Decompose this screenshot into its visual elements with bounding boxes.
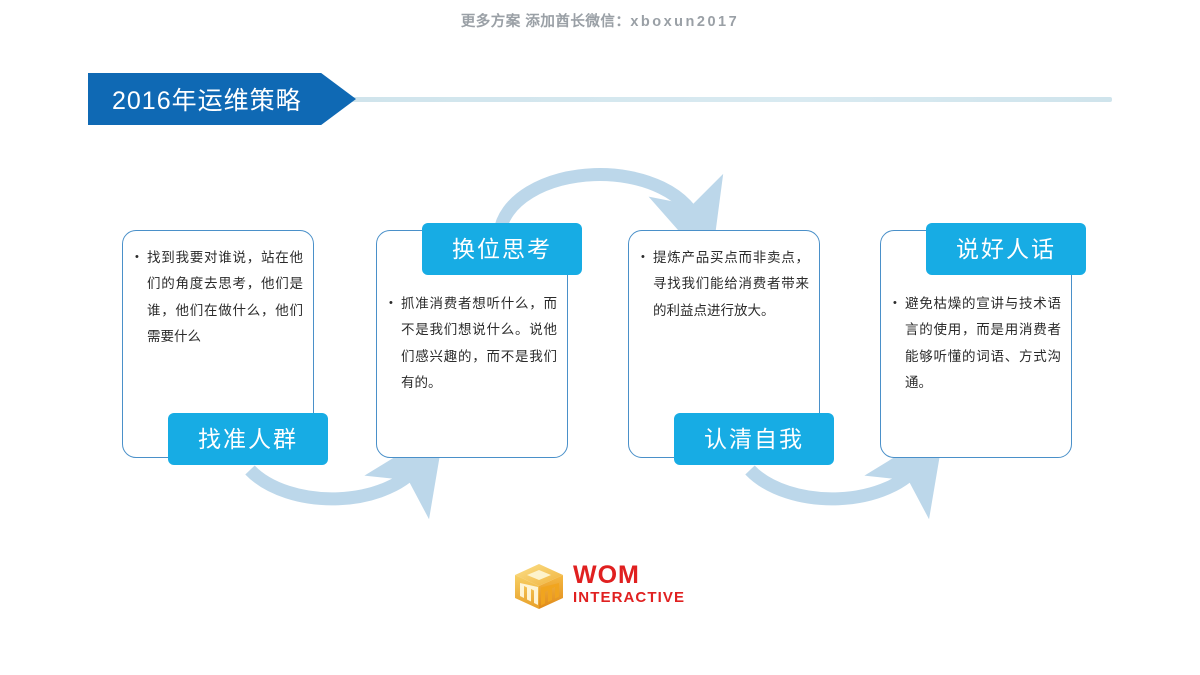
bullet-icon: • bbox=[135, 247, 139, 268]
card-text: 避免枯燥的宣讲与技术语言的使用，而是用消费者能够听懂的词语、方式沟通。 bbox=[905, 291, 1061, 396]
arrow-card3-to-card4 bbox=[750, 463, 920, 499]
card-body-know-self: • 提炼产品买点而非卖点，寻找我们能给消费者带来的利益点进行放大。 bbox=[641, 245, 809, 324]
card-text: 提炼产品买点而非卖点，寻找我们能给消费者带来的利益点进行放大。 bbox=[653, 245, 809, 324]
card-body-find-audience: • 找到我要对谁说，站在他们的角度去思考，他们是谁，他们在做什么，他们需要什么 bbox=[135, 245, 303, 350]
card-body-speak-human: • 避免枯燥的宣讲与技术语言的使用，而是用消费者能够听懂的词语、方式沟通。 bbox=[893, 291, 1061, 396]
bullet-icon: • bbox=[389, 293, 393, 314]
logo-wordmark: WOM INTERACTIVE bbox=[573, 562, 685, 608]
arrow-card1-to-card2 bbox=[250, 463, 420, 499]
card-body-empathy: • 抓准消费者想听什么，而不是我们想说什么。说他们感兴趣的，而不是我们有的。 bbox=[389, 291, 557, 396]
bullet-icon: • bbox=[893, 293, 897, 314]
cube-icon bbox=[513, 562, 567, 612]
bullet-icon: • bbox=[641, 247, 645, 268]
card-find-audience[interactable]: • 找到我要对谁说，站在他们的角度去思考，他们是谁，他们在做什么，他们需要什么 … bbox=[122, 230, 314, 458]
card-empathy[interactable]: • 抓准消费者想听什么，而不是我们想说什么。说他们感兴趣的，而不是我们有的。 换… bbox=[376, 230, 568, 458]
card-know-self[interactable]: • 提炼产品买点而非卖点，寻找我们能给消费者带来的利益点进行放大。 认清自我 bbox=[628, 230, 820, 458]
brand-logo: WOM INTERACTIVE bbox=[505, 558, 705, 616]
card-speak-human[interactable]: • 避免枯燥的宣讲与技术语言的使用，而是用消费者能够听懂的词语、方式沟通。 说好… bbox=[880, 230, 1072, 458]
card-text: 找到我要对谁说，站在他们的角度去思考，他们是谁，他们在做什么，他们需要什么 bbox=[147, 245, 303, 350]
badge-speak-human[interactable]: 说好人话 bbox=[926, 223, 1086, 275]
badge-know-self[interactable]: 认清自我 bbox=[674, 413, 834, 465]
logo-name: WOM bbox=[573, 562, 685, 588]
badge-empathy[interactable]: 换位思考 bbox=[422, 223, 582, 275]
card-text: 抓准消费者想听什么，而不是我们想说什么。说他们感兴趣的，而不是我们有的。 bbox=[401, 291, 557, 396]
badge-find-audience[interactable]: 找准人群 bbox=[168, 413, 328, 465]
logo-tagline: INTERACTIVE bbox=[573, 588, 685, 608]
